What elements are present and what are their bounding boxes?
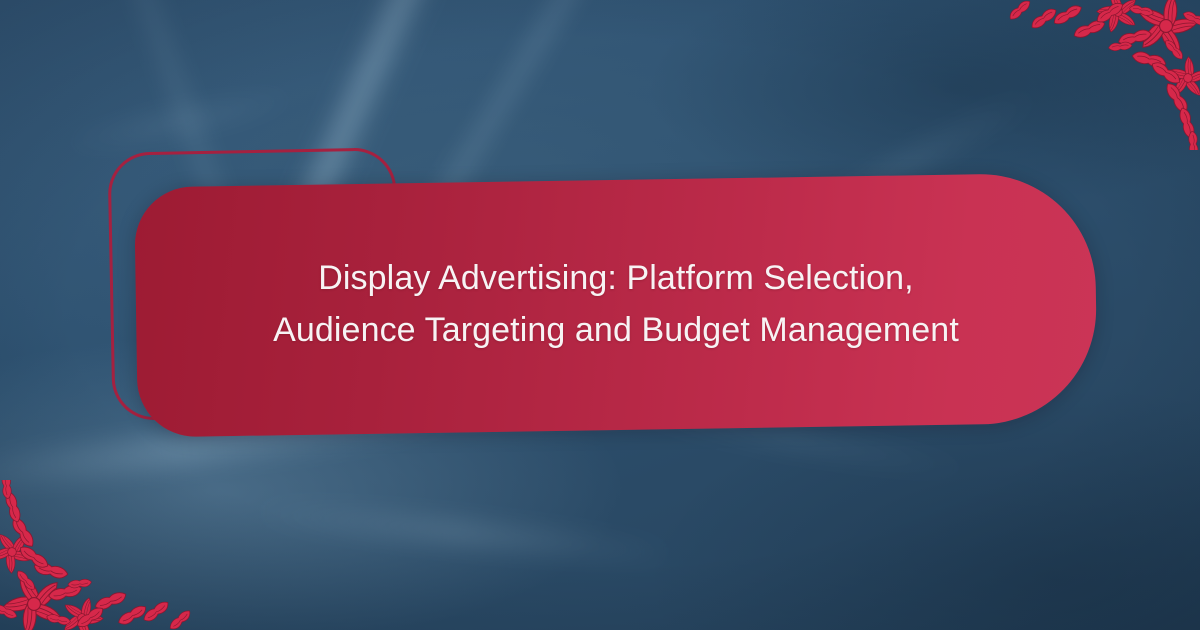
page-title: Display Advertising: Platform Selection,… bbox=[216, 253, 1016, 356]
banner-canvas: Display Advertising: Platform Selection,… bbox=[0, 0, 1200, 630]
title-banner-pill: Display Advertising: Platform Selection,… bbox=[134, 172, 1098, 437]
